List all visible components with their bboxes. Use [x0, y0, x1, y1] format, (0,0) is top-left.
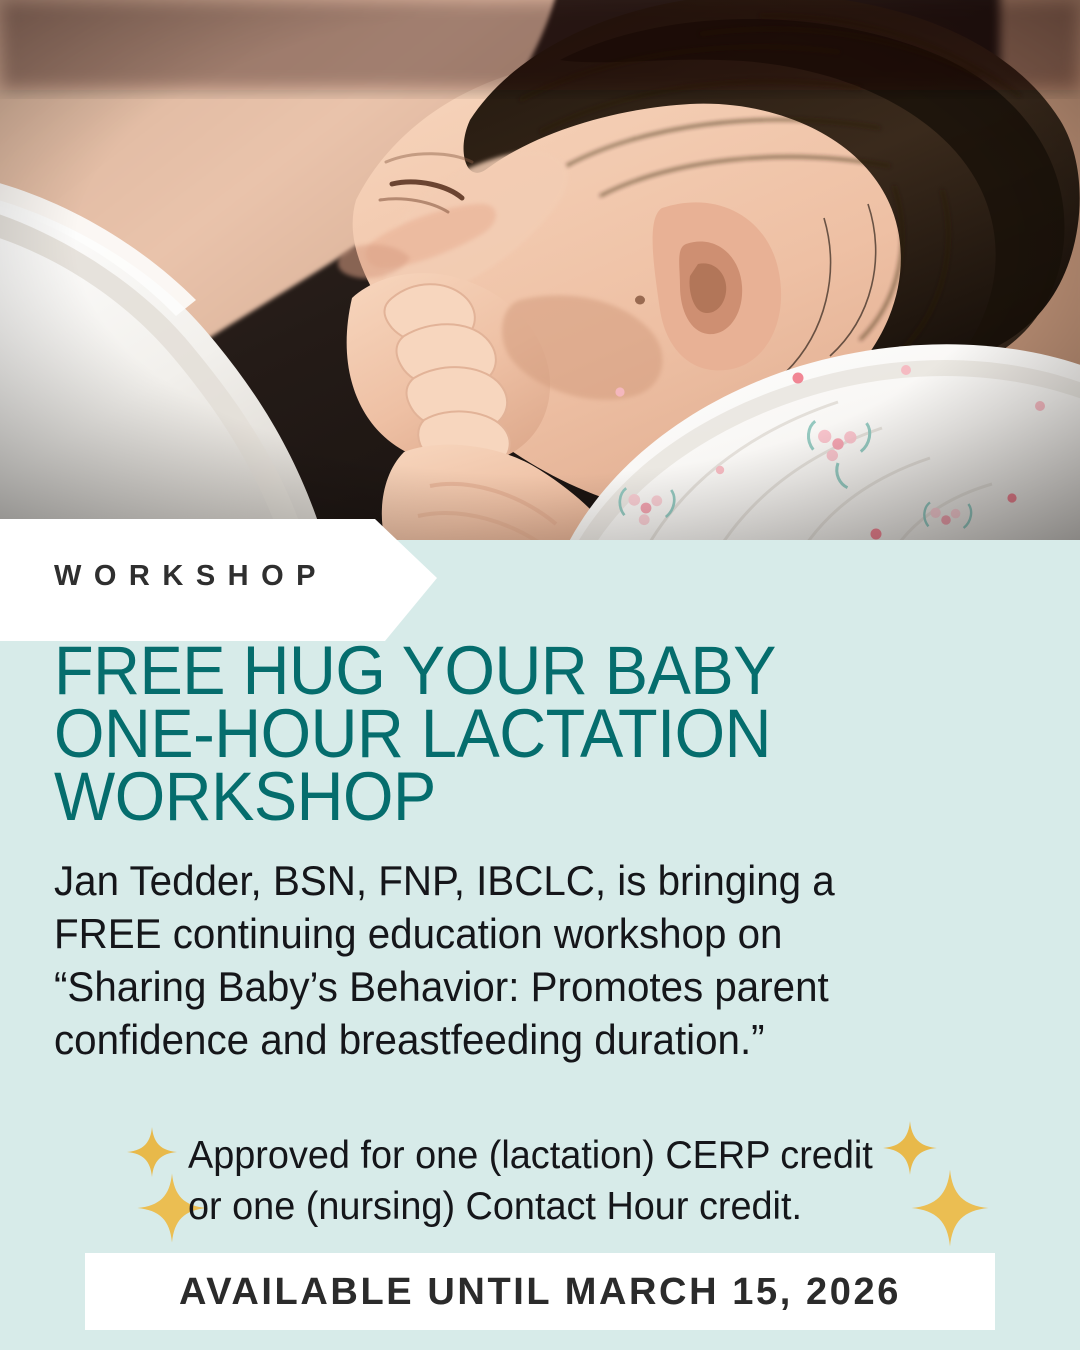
availability-banner: AVAILABLE UNTIL MARCH 15, 2026	[85, 1253, 995, 1330]
content-area: FREE HUG YOUR BABY ONE-HOUR LACTATION WO…	[0, 0, 1080, 1350]
blurb-line-4: confidence and breastfeeding duration.”	[54, 1013, 899, 1066]
blurb-line-1: Jan Tedder, BSN, FNP, IBCLC, is bringing…	[54, 854, 899, 907]
page-title: FREE HUG YOUR BABY ONE-HOUR LACTATION WO…	[54, 639, 947, 828]
sparkle-icon-left-top	[126, 1126, 178, 1178]
sparkle-icon-right-bottom	[910, 1168, 990, 1248]
credit-line-1: Approved for one (lactation) CERP credit	[188, 1130, 873, 1181]
headline-line-1: FREE HUG YOUR BABY	[54, 639, 947, 702]
headline-line-2: ONE-HOUR LACTATION	[54, 702, 947, 765]
availability-date-text: AVAILABLE UNTIL MARCH 15, 2026	[85, 1271, 995, 1314]
description-paragraph: Jan Tedder, BSN, FNP, IBCLC, is bringing…	[54, 854, 899, 1066]
credit-block: Approved for one (lactation) CERP credit…	[120, 1120, 970, 1245]
headline-line-3: WORKSHOP	[54, 765, 947, 828]
poster-canvas: WORKSHOP FREE HUG YOUR BABY ONE-HOUR LAC…	[0, 0, 1080, 1350]
credit-text: Approved for one (lactation) CERP credit…	[188, 1130, 873, 1232]
credit-line-2: or one (nursing) Contact Hour credit.	[188, 1181, 873, 1232]
blurb-line-3: “Sharing Baby’s Behavior: Promotes paren…	[54, 960, 899, 1013]
blurb-line-2: FREE continuing education workshop on	[54, 907, 899, 960]
